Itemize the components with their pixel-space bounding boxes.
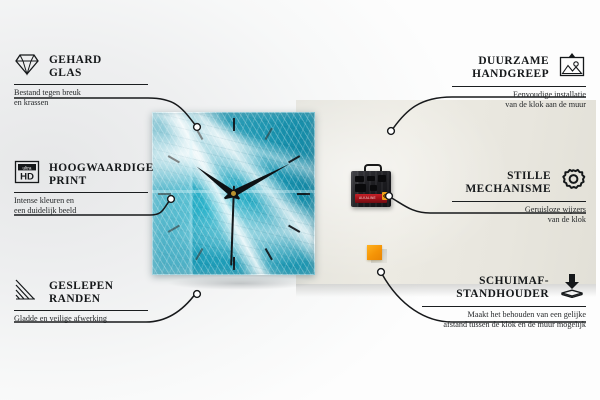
infographic-stage: ALKALINE <box>0 0 600 400</box>
svg-text:HD: HD <box>20 172 34 183</box>
diamond-icon <box>14 52 40 81</box>
feature-silent-mechanism[interactable]: STILLE MECHANISME Geruisloze wijzers van… <box>452 168 586 225</box>
battery: ALKALINE <box>355 194 387 203</box>
gear-icon <box>560 168 586 198</box>
feature-description: Gladde en veilige afwerking <box>14 314 148 324</box>
feature-description: Geruisloze wijzers van de klok <box>452 205 586 225</box>
rule-divider <box>14 192 148 193</box>
feature-title: DUURZAME HANDGREEP <box>472 55 549 81</box>
housing-slot <box>378 175 386 182</box>
arrow-down-onto-pad-icon <box>558 272 586 303</box>
housing-slot <box>367 176 375 181</box>
svg-text:ultra: ultra <box>23 165 32 170</box>
feature-title: SCHUIMAF- STANDHOUDER <box>456 275 549 301</box>
housing-slot <box>370 185 377 191</box>
rule-divider <box>422 306 586 307</box>
rule-divider <box>14 310 148 311</box>
rule-divider <box>14 84 148 85</box>
battery-plus-terminal <box>382 192 388 200</box>
polished-glass-edge <box>152 112 315 275</box>
feature-description: Eenvoudige installatie van de klok aan d… <box>452 90 586 110</box>
feature-tempered-glass[interactable]: GEHARD GLAS Bestand tegen breuk en krass… <box>14 52 148 108</box>
feature-title: STILLE MECHANISME <box>465 170 551 196</box>
hatched-triangle-icon <box>14 278 40 307</box>
rule-divider <box>452 86 586 87</box>
feature-durable-hanger[interactable]: DUURZAME HANDGREEP Eenvoudige installati… <box>452 52 586 110</box>
housing-slot <box>355 176 364 182</box>
clock-shadow <box>140 278 340 296</box>
mechanism-housing: ALKALINE <box>351 171 391 207</box>
feature-description: Bestand tegen breuk en krassen <box>14 88 148 108</box>
feature-title: GEHARD GLAS <box>49 54 102 80</box>
ultra-hd-icon: ultra HD <box>14 160 40 189</box>
feature-polished-edges[interactable]: GESLEPEN RANDEN Gladde en veilige afwerk… <box>14 278 148 324</box>
rule-divider <box>452 201 586 202</box>
feature-title: HOOGWAARDIGE PRINT <box>49 162 154 188</box>
feature-title: GESLEPEN RANDEN <box>49 280 113 306</box>
glass-wall-clock[interactable] <box>152 112 315 275</box>
feature-description: Intense kleuren en een duidelijk beeld <box>14 196 148 216</box>
housing-slot <box>355 184 366 192</box>
clock-mechanism[interactable]: ALKALINE <box>351 171 391 207</box>
foam-spacer[interactable] <box>367 245 382 260</box>
feature-high-quality-print[interactable]: ultra HD HOOGWAARDIGE PRINT Intense kleu… <box>14 160 148 216</box>
battery-label: ALKALINE <box>359 196 376 200</box>
framed-picture-icon <box>558 52 586 83</box>
feature-description: Maakt het behouden van een gelijke afsta… <box>422 310 586 330</box>
feature-foam-spacer[interactable]: SCHUIMAF- STANDHOUDER Maakt het behouden… <box>422 272 586 330</box>
